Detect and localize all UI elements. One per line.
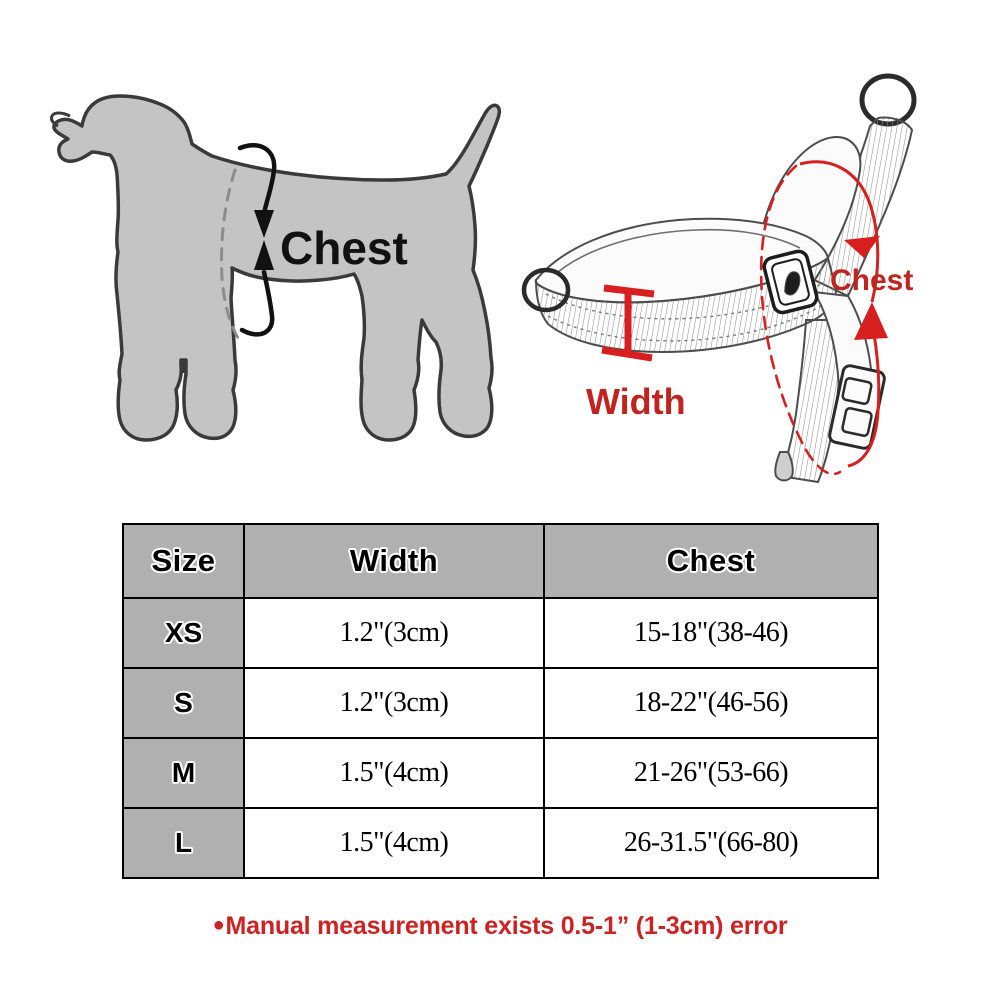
- measurement-disclaimer: ●Manual measurement exists 0.5-1” (1-3cm…: [0, 912, 1000, 941]
- width-value: 1.5"(4cm): [244, 738, 544, 808]
- chest-value: 26-31.5"(66-80): [544, 808, 878, 878]
- dog-leg-separation: [181, 360, 186, 373]
- table-row: S 1.2"(3cm) 18-22"(46-56): [123, 668, 878, 738]
- size-value: S: [123, 668, 244, 738]
- table-header-row: Size Width Chest: [123, 524, 878, 598]
- harness-strap-tip: [775, 452, 793, 481]
- dog-silhouette-figure: Chest: [28, 28, 528, 498]
- column-header-chest: Chest: [544, 524, 878, 598]
- dog-body-path: [54, 96, 499, 440]
- size-chart-page: Chest: [0, 0, 1000, 1000]
- illustrations-area: Chest: [0, 0, 1000, 505]
- table-row: M 1.5"(4cm) 21-26"(53-66): [123, 738, 878, 808]
- harness-width-label: Width: [586, 381, 686, 422]
- size-value: L: [123, 808, 244, 878]
- size-value: XS: [123, 598, 244, 668]
- chest-value: 15-18"(38-46): [544, 598, 878, 668]
- disclaimer-text: Manual measurement exists 0.5-1” (1-3cm)…: [226, 912, 788, 940]
- chest-value: 18-22"(46-56): [544, 668, 878, 738]
- width-value: 1.5"(4cm): [244, 808, 544, 878]
- dog-chest-label: Chest: [280, 222, 408, 274]
- column-header-size: Size: [123, 524, 244, 598]
- width-value: 1.2"(3cm): [244, 598, 544, 668]
- bullet-icon: ●: [213, 914, 225, 936]
- size-value: M: [123, 738, 244, 808]
- harness-illustration-figure: Width Chest: [518, 58, 988, 503]
- column-header-width: Width: [244, 524, 544, 598]
- width-value: 1.2"(3cm): [244, 668, 544, 738]
- table-row: L 1.5"(4cm) 26-31.5"(66-80): [123, 808, 878, 878]
- dog-body-shape: [51, 96, 499, 440]
- table-row: XS 1.2"(3cm) 15-18"(38-46): [123, 598, 878, 668]
- harness-chest-label: Chest: [830, 264, 913, 297]
- chest-loop-bottom-stroke: [242, 272, 272, 334]
- chest-value: 21-26"(53-66): [544, 738, 878, 808]
- size-chart-table: Size Width Chest XS 1.2"(3cm) 15-18"(38-…: [122, 523, 879, 879]
